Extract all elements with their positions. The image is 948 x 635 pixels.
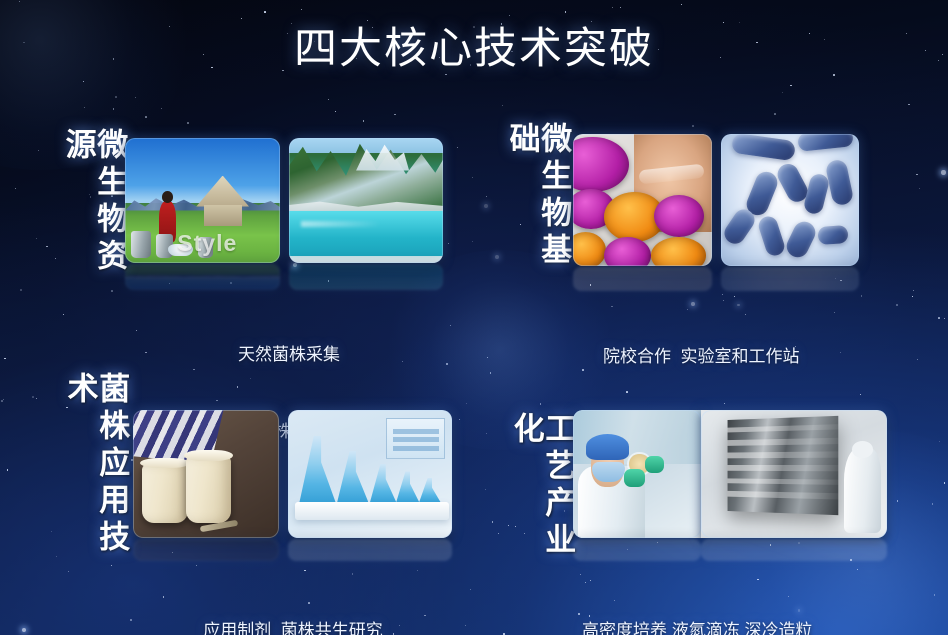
- caption-process-industrialization: 高密度培养 液氮滴冻 深冷造粒 360°热辐冻干 菌体包埋: [582, 566, 922, 635]
- vertical-label-microbial-foundation: 微生物基础: [506, 122, 569, 297]
- vertical-label-process-industrialization: 工艺产业化: [510, 412, 573, 590]
- caption-line: 天然菌株采集: [130, 342, 448, 368]
- caption-line: 应用制剂 菌株共生研究: [130, 618, 456, 635]
- photo-watermark: Style: [177, 230, 237, 257]
- bacteria-rods-photo: [721, 134, 859, 266]
- photo-reflection: [721, 267, 859, 291]
- photo-reflection: [289, 264, 443, 290]
- dryer-rack-shape: [728, 415, 839, 514]
- wall-poster-shape: [386, 418, 445, 459]
- photo-reflection: [133, 539, 279, 561]
- photo-reflection: [288, 539, 452, 561]
- blue-flasks-photo: [288, 410, 452, 538]
- caption-strain-application-technology: 应用制剂 菌株共生研究 特色质构研究 代谢组学研究: [130, 566, 456, 635]
- grassland-yurt-photo: Style: [125, 138, 280, 263]
- yurt-shape: [196, 176, 249, 226]
- presentation-slide: 四大核心技术突破 微生物资源 Style: [0, 0, 948, 635]
- photo-reflection: [573, 267, 712, 291]
- lab-technician-photo: [573, 410, 701, 538]
- caption-line: 院校合作 实验室和工作站: [603, 344, 933, 370]
- vertical-label-microbial-resources: 微生物资源: [62, 128, 125, 303]
- vertical-label-strain-application-technology: 菌株应用技术: [64, 372, 127, 584]
- petri-dish-researcher-photo: [573, 134, 712, 266]
- hair-cap-shape: [586, 434, 630, 460]
- cleanroom-worker-shape: [844, 448, 881, 532]
- photo-reflection: [125, 264, 280, 290]
- turquoise-lake-photo: [289, 138, 443, 263]
- yogurt-jars-photo: [133, 410, 279, 538]
- freeze-dryer-racks-photo: [701, 410, 887, 538]
- caption-line: 高密度培养 液氮滴冻 深冷造粒: [582, 618, 922, 635]
- slide-title: 四大核心技术突破: [0, 14, 948, 76]
